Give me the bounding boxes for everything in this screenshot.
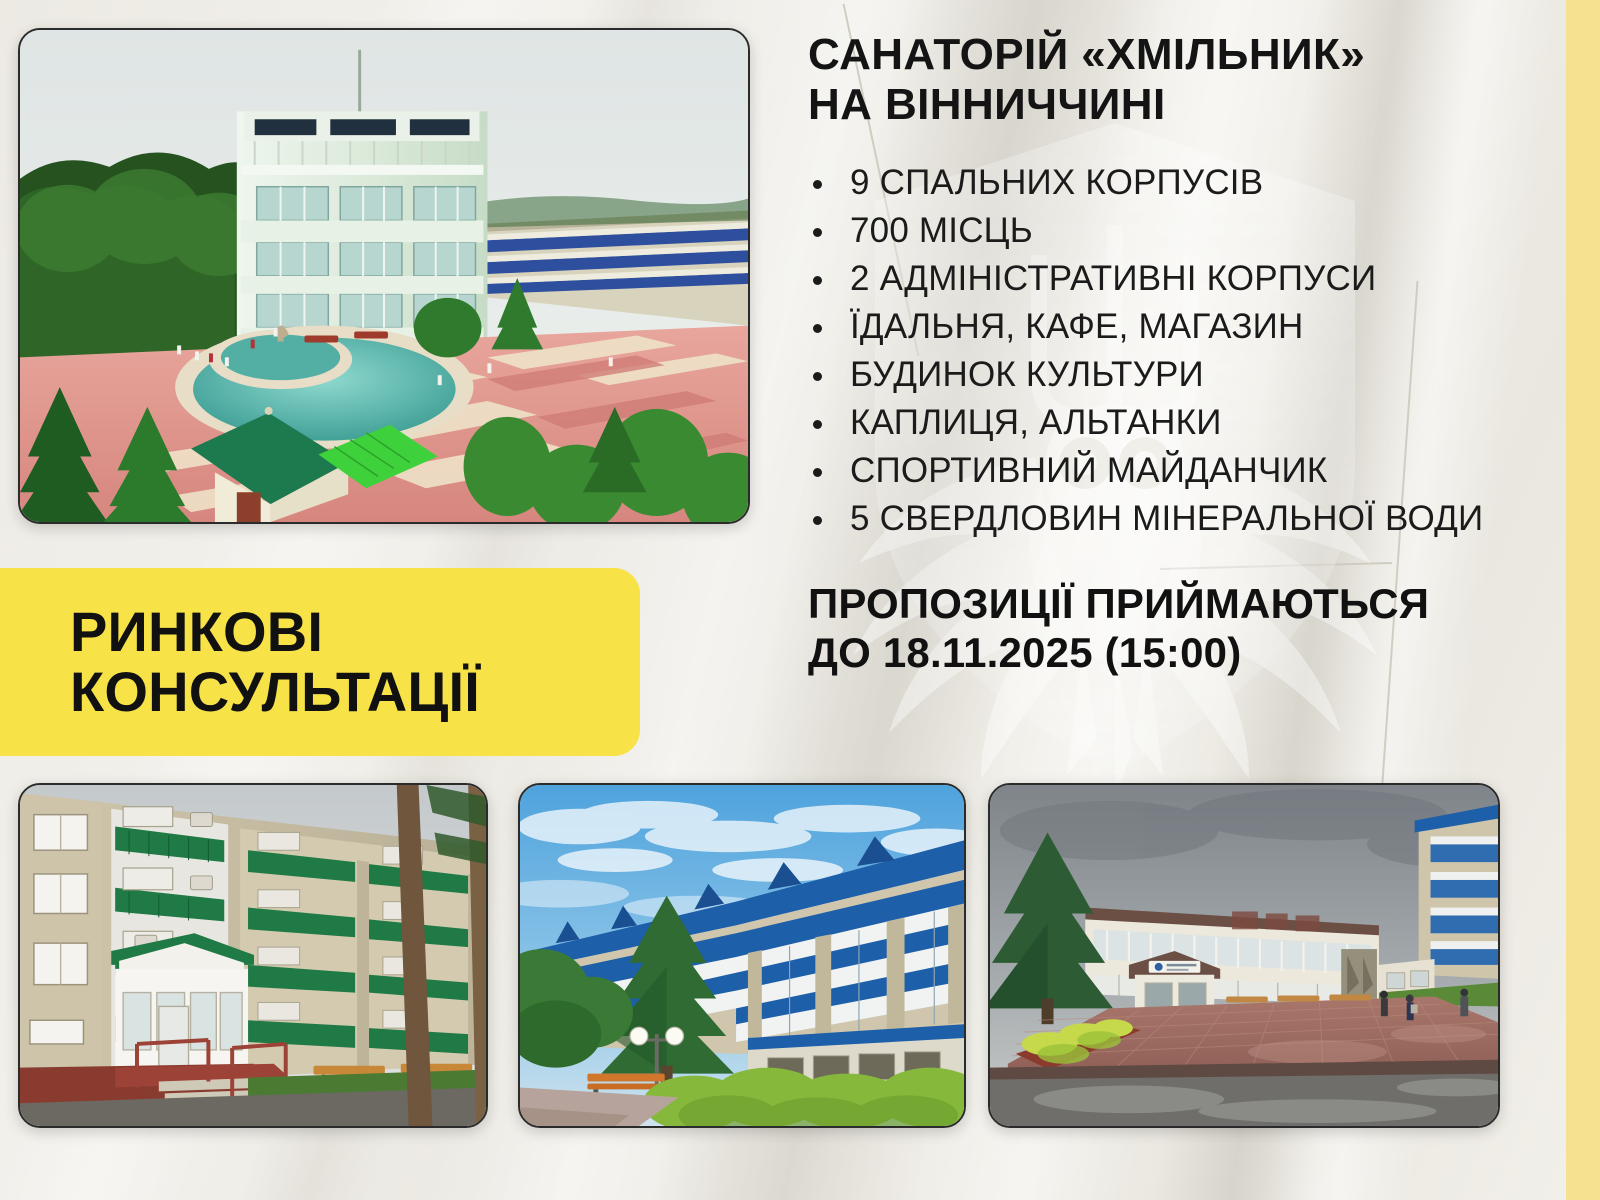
list-item: ЇДАЛЬНЯ, КАФЕ, МАГАЗИН bbox=[808, 303, 1508, 351]
info-column: САНАТОРІЙ «ХМІЛЬНИК» НА ВІННИЧЧИНІ 9 СПА… bbox=[808, 30, 1508, 677]
market-consultations-banner: РИНКОВІ КОНСУЛЬТАЦІЇ bbox=[0, 568, 640, 756]
page-title: САНАТОРІЙ «ХМІЛЬНИК» НА ВІННИЧЧИНІ bbox=[808, 30, 1508, 129]
dormitory-green-balconies-photo bbox=[18, 783, 488, 1128]
list-item: 5 СВЕРДЛОВИН МІНЕРАЛЬНОЇ ВОДИ bbox=[808, 495, 1508, 543]
list-item: КАПЛИЦЯ, АЛЬТАНКИ bbox=[808, 399, 1508, 447]
list-item: БУДИНОК КУЛЬТУРИ bbox=[808, 351, 1508, 399]
submission-deadline: ПРОПОЗИЦІЇ ПРИЙМАЮТЬСЯ ДО 18.11.2025 (15… bbox=[808, 579, 1508, 677]
facilities-list: 9 СПАЛЬНИХ КОРПУСІВ 700 МІСЦЬ 2 АДМІНІСТ… bbox=[808, 159, 1508, 543]
administrative-building-plaza-photo bbox=[988, 783, 1500, 1128]
list-item: 2 АДМІНІСТРАТИВНІ КОРПУСИ bbox=[808, 255, 1508, 303]
banner-line-2: КОНСУЛЬТАЦІЇ bbox=[70, 662, 640, 722]
aerial-view-sanatorium-fountain-photo bbox=[18, 28, 750, 524]
dormitory-blue-facade-photo bbox=[518, 783, 966, 1128]
banner-line-1: РИНКОВІ bbox=[70, 602, 640, 662]
list-item: 700 МІСЦЬ bbox=[808, 207, 1508, 255]
list-item: СПОРТИВНИЙ МАЙДАНЧИК bbox=[808, 447, 1508, 495]
poster-page: РИНКОВІ КОНСУЛЬТАЦІЇ САНАТОРІЙ «ХМІЛЬНИК… bbox=[0, 0, 1600, 1200]
right-edge-accent-stripe bbox=[1566, 0, 1600, 1200]
list-item: 9 СПАЛЬНИХ КОРПУСІВ bbox=[808, 159, 1508, 207]
